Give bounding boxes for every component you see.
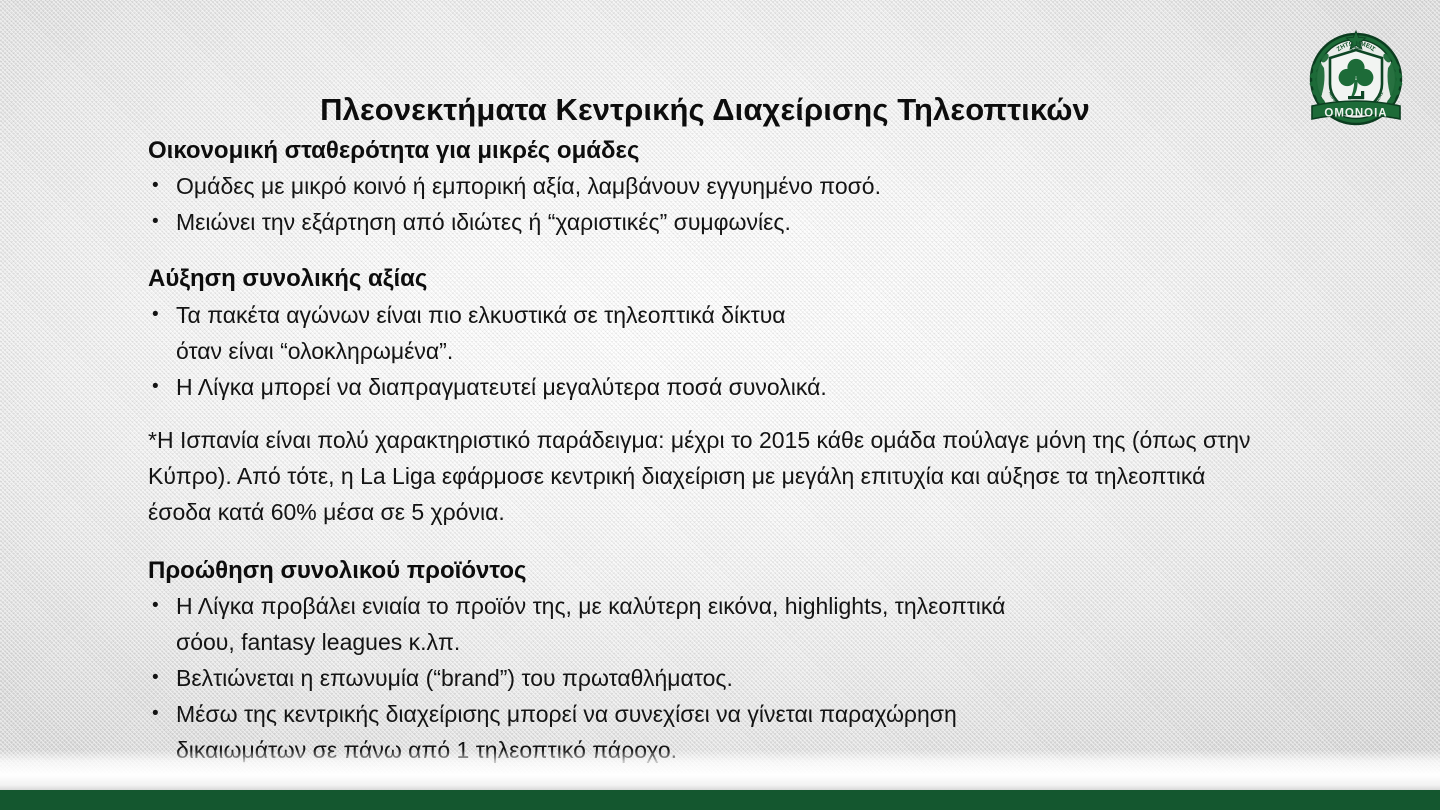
- list-item-text-wrap: σόου, fantasy leagues κ.λπ.: [176, 624, 1268, 660]
- list-item: • Η Λίγκα μπορεί να διαπραγματευτεί μεγα…: [148, 369, 1268, 405]
- bottom-fade-band: [0, 750, 1440, 790]
- omonoia-crest-logo: ΖΗΤΩ ΗΜΕΙΣ 1948: [1300, 22, 1412, 134]
- list-item-text: Ομάδες με μικρό κοινό ή εμπορική αξία, λ…: [176, 173, 881, 199]
- bullet-list: • Ομάδες με μικρό κοινό ή εμπορική αξία,…: [148, 168, 1268, 240]
- bullet-list: • Τα πακέτα αγώνων είναι πιο ελκυστικά σ…: [148, 297, 1268, 405]
- svg-text:ΟΜΟΝΟΙΑ: ΟΜΟΝΟΙΑ: [1324, 108, 1387, 120]
- bullet-icon: •: [152, 588, 159, 624]
- presentation-slide: Πλεονεκτήματα Κεντρικής Διαχείρισης Τηλε…: [0, 0, 1440, 810]
- bullet-icon: •: [152, 297, 159, 333]
- slide-content: Πλεονεκτήματα Κεντρικής Διαχείρισης Τηλε…: [0, 0, 1440, 810]
- section-heading: Προώθηση συνολικού προϊόντος: [148, 556, 1268, 585]
- bullet-icon: •: [152, 660, 159, 696]
- section-heading: Οικονομική σταθερότητα για μικρές ομάδες: [148, 136, 1268, 165]
- list-item-text: Βελτιώνεται η επωνυμία (“brand”) του πρω…: [176, 665, 733, 691]
- bullet-icon: •: [152, 168, 159, 204]
- list-item-text: Μέσω της κεντρικής διαχείρισης μπορεί να…: [176, 701, 957, 727]
- list-item: • Ομάδες με μικρό κοινό ή εμπορική αξία,…: [148, 168, 1268, 204]
- list-item-text: Μειώνει την εξάρτηση από ιδιώτες ή “χαρι…: [176, 209, 791, 235]
- list-item-text-wrap: όταν είναι “ολοκληρωμένα”.: [176, 333, 1268, 369]
- bullet-icon: •: [152, 696, 159, 732]
- list-item: • Η Λίγκα προβάλει ενιαία το προϊόν της,…: [148, 588, 1268, 660]
- section-economic-stability: Οικονομική σταθερότητα για μικρές ομάδες…: [148, 136, 1268, 240]
- list-item: • Τα πακέτα αγώνων είναι πιο ελκυστικά σ…: [148, 297, 1268, 369]
- list-item-text: Η Λίγκα προβάλει ενιαία το προϊόν της, μ…: [176, 593, 1005, 619]
- bullet-list: • Η Λίγκα προβάλει ενιαία το προϊόν της,…: [148, 588, 1268, 768]
- spain-example-note: *Η Ισπανία είναι πολύ χαρακτηριστικό παρ…: [148, 422, 1263, 530]
- bullet-icon: •: [152, 204, 159, 240]
- section-spacer: [148, 240, 1268, 264]
- list-item-text: Η Λίγκα μπορεί να διαπραγματευτεί μεγαλύ…: [176, 374, 827, 400]
- section-total-value-increase: Αύξηση συνολικής αξίας • Τα πακέτα αγώνω…: [148, 264, 1268, 404]
- slide-body: Οικονομική σταθερότητα για μικρές ομάδες…: [148, 136, 1268, 768]
- section-spacer: [148, 530, 1268, 556]
- page-title: Πλεονεκτήματα Κεντρικής Διαχείρισης Τηλε…: [0, 93, 1440, 128]
- section-heading: Αύξηση συνολικής αξίας: [148, 264, 1268, 293]
- section-spacer: [148, 405, 1268, 422]
- list-item-text: Τα πακέτα αγώνων είναι πιο ελκυστικά σε …: [176, 302, 786, 328]
- bullet-icon: •: [152, 369, 159, 405]
- list-item: • Βελτιώνεται η επωνυμία (“brand”) του π…: [148, 660, 1268, 696]
- bottom-green-bar: [0, 790, 1440, 810]
- section-product-promotion: Προώθηση συνολικού προϊόντος • Η Λίγκα π…: [148, 556, 1268, 768]
- list-item: • Μειώνει την εξάρτηση από ιδιώτες ή “χα…: [148, 204, 1268, 240]
